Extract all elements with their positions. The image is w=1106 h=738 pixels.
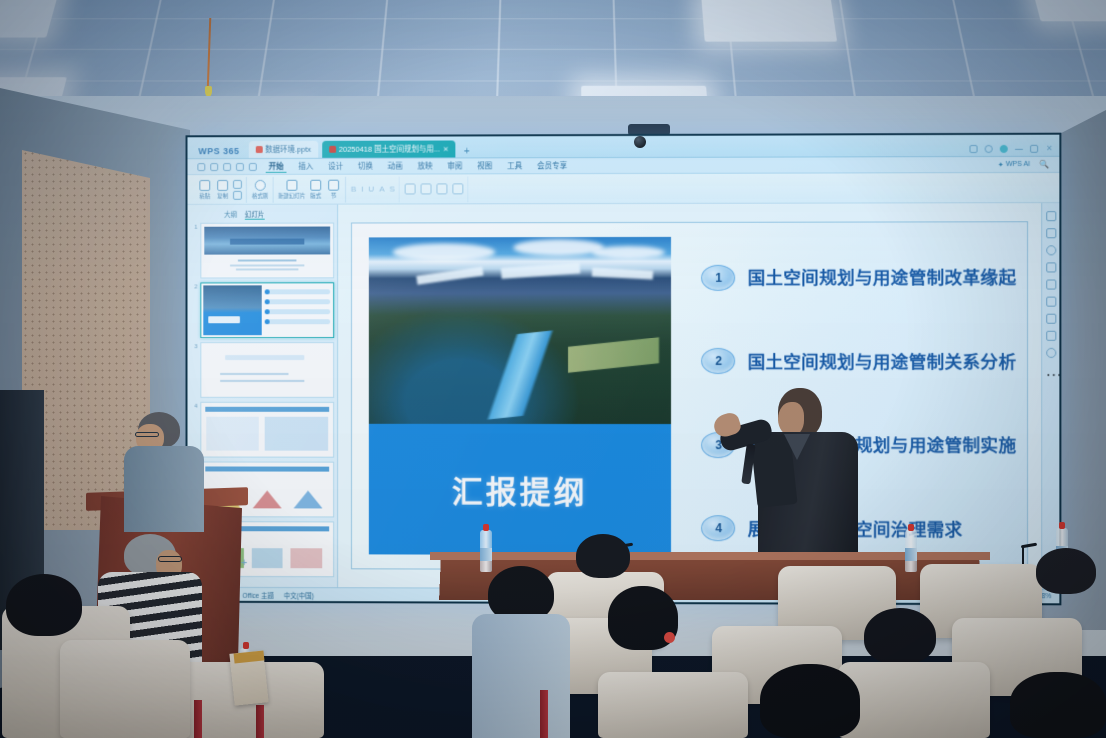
ribbon-group-paragraph [401, 176, 469, 202]
italic-icon[interactable]: I [361, 185, 363, 194]
hair [760, 664, 860, 738]
document-tab-label: 数据环境.pptx [265, 144, 311, 155]
agenda-item-text: 国土空间规划与用途管制关系分析 [748, 349, 1017, 374]
agenda-item-text: 国土空间规划与用途管制改革缘起 [748, 265, 1017, 290]
thumb-chart-block [265, 417, 328, 451]
file-menu-icon[interactable] [197, 163, 205, 171]
align-center-icon[interactable] [421, 183, 432, 194]
hair [1010, 672, 1106, 738]
slide-hero-image[interactable] [369, 237, 671, 424]
document-tab-label: 20250418 国土空间规划与用... [339, 144, 440, 155]
thumb-line [236, 268, 299, 270]
attendee [488, 566, 554, 622]
conference-room-scene: WPS 365 数据环境.pptx 20250418 国土空间规划与用... ✕… [0, 0, 1106, 738]
attendee [760, 664, 860, 738]
section-label: 节 [331, 191, 336, 199]
thumb-agenda-row [265, 319, 331, 324]
slide-thumbnail-2-selected[interactable] [200, 282, 334, 338]
slide-thumbnail-1[interactable] [200, 223, 334, 279]
thumbnail-row[interactable]: 4 [190, 402, 334, 458]
pptx-file-icon [329, 146, 336, 153]
more-icon[interactable]: ⋯ [1046, 365, 1056, 375]
section-icon [328, 179, 339, 190]
thumb-hero [203, 285, 261, 335]
layout-label: 版式 [310, 191, 321, 199]
crop-icon[interactable] [1046, 331, 1056, 341]
chair-leg [194, 700, 202, 738]
paste-button[interactable]: 粘贴 [197, 179, 212, 199]
align-right-icon[interactable] [437, 183, 448, 194]
thumbnail-number: 4 [190, 402, 197, 410]
pptx-file-icon [255, 146, 262, 153]
thumb-header-bar [205, 466, 329, 471]
menu-item-member[interactable]: 会员专享 [534, 160, 570, 171]
snow-cap [501, 262, 580, 279]
water-bottle [905, 530, 917, 572]
format-painter-label: 格式刷 [252, 191, 268, 199]
language-label[interactable]: 中文(中国) [284, 590, 314, 600]
thumb-line [220, 373, 288, 375]
maximize-icon[interactable] [1030, 145, 1038, 153]
chair [838, 662, 990, 738]
undo-icon[interactable] [236, 163, 244, 171]
thumbnail-row[interactable]: 2 [190, 282, 334, 338]
chair [598, 672, 748, 738]
wps-ai-button[interactable]: ✦ WPS AI [998, 160, 1030, 168]
glasses-icon [158, 556, 182, 562]
hair [864, 608, 936, 664]
paste-label: 粘贴 [199, 191, 210, 199]
wps-presentation-window: WPS 365 数据环境.pptx 20250418 国土空间规划与用... ✕… [187, 135, 1059, 604]
attendee [576, 534, 630, 578]
account-avatar[interactable] [1000, 145, 1008, 153]
menu-item-animation[interactable]: 动画 [385, 161, 406, 172]
attendee [1010, 672, 1106, 738]
new-tab-button[interactable]: + [460, 146, 474, 157]
strikethrough-icon[interactable]: S [389, 185, 394, 194]
copy-button[interactable]: 复制 [215, 179, 230, 199]
river-shape [437, 326, 602, 424]
menu-item-review[interactable]: 审阅 [444, 160, 465, 171]
cloud-shape [393, 243, 496, 262]
attendee [864, 608, 936, 664]
thumbnail-number: 1 [190, 223, 197, 231]
close-icon[interactable]: ✕ [1045, 145, 1053, 153]
slide-thumbnail-3[interactable] [200, 342, 334, 398]
thumb-agenda-row [265, 309, 331, 314]
ai-sparkle-icon: ✦ [998, 160, 1004, 168]
slide-title: 汇报提纲 [452, 467, 588, 512]
section-button[interactable]: 节 [326, 179, 341, 199]
hair [1036, 548, 1096, 594]
underline-icon[interactable]: U [368, 185, 374, 194]
slide-thumbnail-4[interactable] [200, 402, 334, 458]
new-slide-icon [286, 179, 297, 190]
camera-lens-icon [634, 136, 646, 148]
torso [124, 446, 204, 532]
agenda-number-badge: 1 [702, 265, 736, 291]
thumb-line [230, 264, 304, 266]
glasses-icon [135, 432, 159, 437]
thumbnail-number: 2 [190, 282, 197, 290]
agenda-number-badge: 4 [702, 515, 736, 541]
format-painter-icon [255, 179, 266, 190]
shapes-icon[interactable] [1046, 228, 1056, 238]
window-controls[interactable]: ✕ [969, 145, 1053, 156]
print-icon[interactable] [223, 163, 231, 171]
new-slide-label: 新建幻灯片 [278, 191, 305, 199]
thumb-photo [291, 548, 323, 568]
thumb-agenda-row [265, 299, 331, 304]
thumb-header-bar [205, 407, 329, 412]
bold-icon[interactable]: B [351, 185, 356, 194]
attendee [6, 574, 82, 636]
thumb-text-block [206, 417, 259, 451]
thumb-pyramid [294, 490, 323, 508]
format-painter-icon[interactable] [233, 190, 242, 199]
theme-label[interactable]: Office 主题 [242, 589, 273, 599]
menu-item-tools[interactable]: 工具 [504, 160, 525, 171]
document-tab[interactable]: 数据环境.pptx [248, 141, 318, 158]
copy-icon [217, 179, 228, 190]
add-slide-button[interactable]: + [241, 557, 247, 569]
thumb-agenda-rows [265, 289, 331, 324]
torso [472, 614, 570, 738]
align-left-icon[interactable] [405, 183, 416, 194]
thumb-caption [208, 316, 240, 323]
thumb-title-bar [230, 239, 304, 245]
animation-icon[interactable] [1046, 348, 1056, 358]
menu-spacer [579, 165, 989, 166]
agenda-item[interactable]: 1 国土空间规划与用途管制改革缘起 [702, 264, 1014, 290]
attendee [608, 586, 678, 650]
hair [576, 534, 630, 578]
chart-icon[interactable] [1046, 280, 1056, 290]
current-slide[interactable]: 汇报提纲 1 国土空间规划与用途管制改革缘起 2 国土空间规划与用途管制关系分析… [352, 222, 1027, 569]
menu-item-start[interactable]: 开始 [266, 160, 287, 172]
slide-canvas-area[interactable]: 汇报提纲 1 国土空间规划与用途管制改革缘起 2 国土空间规划与用途管制关系分析… [338, 203, 1041, 589]
cloud-shape [592, 246, 665, 259]
chair-leg [540, 690, 548, 738]
help-icon[interactable] [985, 145, 993, 153]
minimize-icon[interactable] [1015, 148, 1023, 149]
redo-icon[interactable] [249, 162, 257, 170]
table-icon[interactable] [1046, 297, 1056, 307]
image-icon[interactable] [1046, 262, 1056, 272]
favorites-icon[interactable] [1046, 245, 1056, 255]
copy-label: 复制 [217, 191, 228, 199]
thumbnail-row[interactable]: 3 [190, 342, 334, 398]
tab-slides[interactable]: 幻灯片 [245, 209, 264, 220]
menu-item-transition[interactable]: 切换 [355, 161, 376, 172]
chair [60, 640, 190, 738]
menu-item-view[interactable]: 视图 [474, 160, 495, 171]
agenda-item[interactable]: 2 国土空间规划与用途管制关系分析 [702, 348, 1014, 374]
thumbnail-row[interactable]: 1 [190, 223, 334, 279]
cut-icon[interactable] [233, 179, 242, 188]
search-icon[interactable]: 🔍 [1039, 160, 1049, 169]
ribbon-toolbar[interactable]: 粘贴 复制 格式刷 新建幻灯片 [187, 173, 1059, 205]
close-tab-icon[interactable]: ✕ [443, 145, 449, 153]
document-tab-active[interactable]: 20250418 国土空间规划与用... ✕ [322, 140, 456, 157]
attendee [1036, 548, 1096, 594]
layout-button[interactable]: 版式 [308, 179, 323, 199]
bullet-list-icon[interactable] [452, 183, 463, 194]
tab-outline[interactable]: 大纲 [224, 209, 237, 220]
menu-item-slideshow[interactable]: 放映 [415, 160, 436, 171]
ribbon-group-font: B I U A S [347, 176, 400, 202]
presenter [752, 388, 864, 558]
thumb-line [220, 380, 304, 382]
save-icon[interactable] [210, 163, 218, 171]
chair-leg [256, 705, 264, 738]
pane-tabs[interactable]: 大纲 幻灯片 [190, 207, 334, 223]
agenda-number-badge: 2 [702, 348, 736, 374]
new-slide-button[interactable]: 新建幻灯片 [278, 179, 305, 199]
editor-workarea: 大纲 幻灯片 1 2 [187, 203, 1059, 589]
format-painter-button[interactable]: 格式刷 [252, 179, 268, 199]
cloud-shape [514, 239, 605, 256]
snow-cap [592, 267, 653, 279]
media-icon[interactable] [1046, 314, 1056, 324]
ribbon-group-undo: 格式刷 [248, 176, 273, 202]
layout-icon [310, 179, 321, 190]
wps-ai-label: WPS AI [1006, 161, 1030, 168]
window-titlebar: WPS 365 数据环境.pptx 20250418 国土空间规划与用... ✕… [187, 135, 1059, 159]
snow-cap [417, 266, 484, 285]
clipboard-small-buttons[interactable] [233, 179, 242, 199]
menu-item-insert[interactable]: 插入 [295, 161, 316, 172]
thumb-agenda-row [265, 289, 331, 294]
thumb-pyramid [253, 490, 282, 508]
ribbon-group-clipboard: 粘贴 复制 [193, 176, 246, 202]
presenter-face [778, 402, 804, 436]
ribbon-group-slides: 新建幻灯片 版式 节 [274, 176, 346, 202]
properties-icon[interactable] [1046, 211, 1056, 221]
thumb-header [225, 355, 304, 360]
menu-item-design[interactable]: 设计 [325, 161, 346, 172]
paste-icon [199, 180, 210, 191]
thumbnail-number: 3 [190, 342, 197, 350]
thumb-photo [251, 548, 283, 568]
quick-access-toolbar[interactable] [197, 162, 256, 170]
thumb-subtitle [238, 259, 296, 261]
restore-icon[interactable] [969, 145, 977, 153]
seated-man-at-podium [118, 412, 204, 532]
hair-tie [664, 632, 675, 643]
text-color-icon[interactable]: A [379, 185, 384, 194]
wps-logo: WPS 365 [193, 144, 244, 158]
hair [6, 574, 82, 636]
